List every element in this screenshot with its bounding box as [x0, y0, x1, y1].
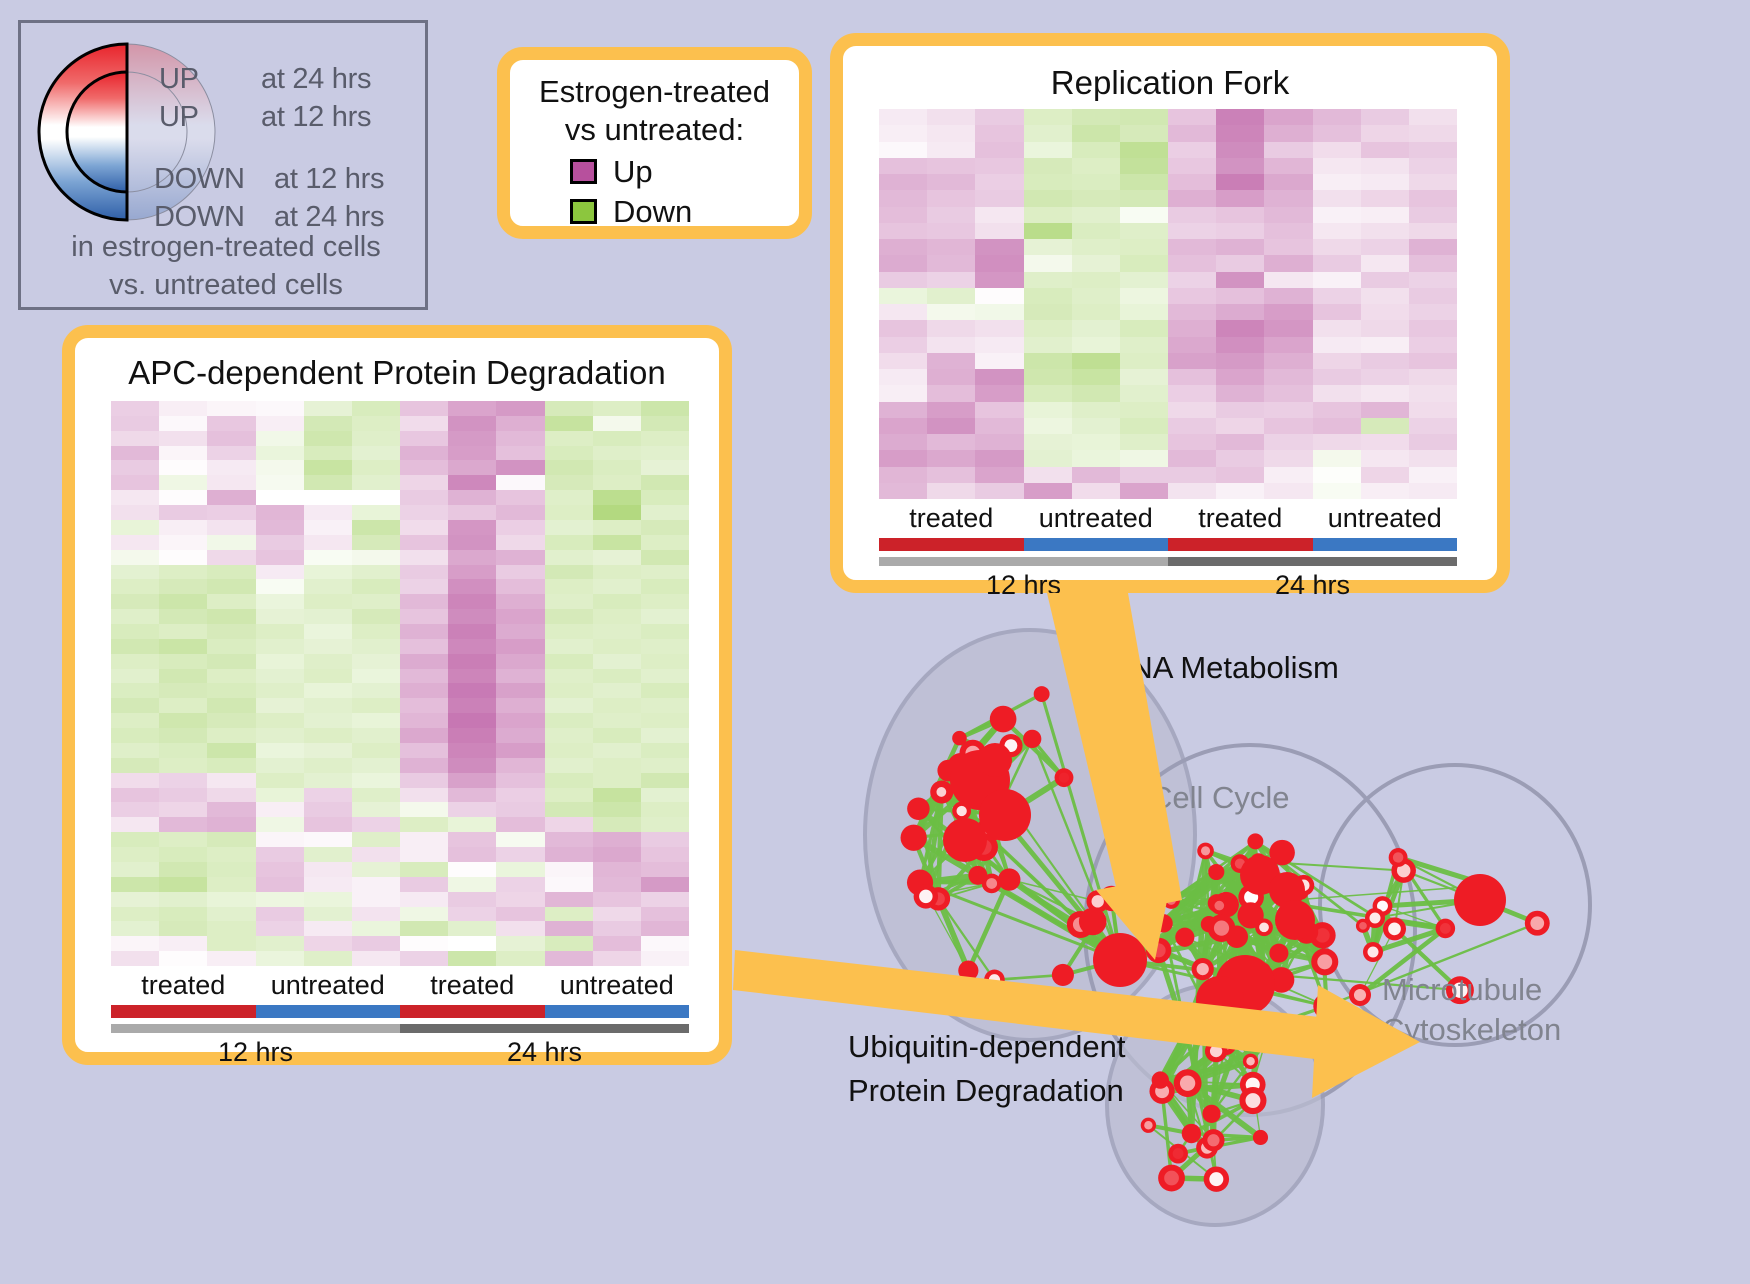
heatmap-cell	[256, 431, 304, 446]
heatmap-cell	[1313, 369, 1361, 385]
heatmap-cell	[545, 788, 593, 803]
heatmap-cell	[641, 892, 689, 907]
network-node-core	[1440, 923, 1451, 934]
heatmap-cell	[256, 743, 304, 758]
heatmap-cell	[159, 446, 207, 461]
network-node-core	[1235, 1020, 1250, 1035]
heatmap-cell	[352, 639, 400, 654]
heatmap-cell	[545, 669, 593, 684]
heatmap-cell	[1072, 174, 1120, 190]
heatmap-cell	[1168, 255, 1216, 271]
network-node-core	[1209, 1172, 1223, 1186]
network-node	[990, 706, 1017, 733]
heatmap-cell	[1072, 402, 1120, 418]
heatmap-cell	[496, 758, 544, 773]
heatmap-cell	[1409, 158, 1457, 174]
heatmap-cell	[1072, 483, 1120, 499]
heatmap-cell	[352, 773, 400, 788]
heatmap-cell	[304, 788, 352, 803]
heatmap-cell	[1216, 337, 1264, 353]
heatmap-cell	[1072, 125, 1120, 141]
heatmap-cell	[448, 446, 496, 461]
heatmap-cell	[159, 921, 207, 936]
heatmap-cell	[927, 402, 975, 418]
heatmap-cell	[1313, 255, 1361, 271]
direction-ring-legend: UP at 24 hrs UP at 12 hrs DOWN at 12 hrs…	[18, 20, 428, 310]
heatmap-cell	[1216, 158, 1264, 174]
heatmap-cell	[256, 624, 304, 639]
heatmap-cell	[352, 788, 400, 803]
heatmap-cell	[448, 520, 496, 535]
heatmap-cell	[448, 951, 496, 966]
heatmap-cell	[1313, 337, 1361, 353]
heatmap-cell	[1216, 288, 1264, 304]
heatmap-cell	[975, 369, 1023, 385]
heatmap-cell	[304, 609, 352, 624]
heatmap-cell	[975, 467, 1023, 483]
heatmap-cell	[111, 921, 159, 936]
heatmap-cell	[1361, 337, 1409, 353]
heatmap-cell	[593, 609, 641, 624]
heatmap-cell	[304, 936, 352, 951]
heatmap-cell	[1024, 288, 1072, 304]
heatmap-cell	[111, 624, 159, 639]
heatmap-cell	[111, 401, 159, 416]
heatmap-cell	[304, 669, 352, 684]
heatmap-cell	[1120, 402, 1168, 418]
heatmap-cell	[641, 460, 689, 475]
heatmap-cell	[1120, 418, 1168, 434]
heatmap-cell	[304, 520, 352, 535]
heatmap-cell	[256, 460, 304, 475]
heatmap-cell	[545, 401, 593, 416]
heatmap-cell	[207, 520, 255, 535]
heatmap-cell	[641, 639, 689, 654]
heatmap-cell	[1216, 402, 1264, 418]
heatmap-cell	[111, 788, 159, 803]
heatmap-cell	[304, 951, 352, 966]
heatmap-cell	[1409, 142, 1457, 158]
updown-title-line-1: Estrogen-treated	[510, 74, 799, 110]
heatmap-cell	[400, 460, 448, 475]
ring-row-label-2: DOWN	[154, 163, 245, 196]
network-node-core	[1530, 916, 1544, 930]
heatmap-cell	[1120, 304, 1168, 320]
heatmap-cell	[879, 239, 927, 255]
network-node	[1182, 1124, 1201, 1143]
heatmap-cell	[304, 579, 352, 594]
heatmap-cell	[1072, 304, 1120, 320]
heatmap-cell	[1409, 483, 1457, 499]
heatmap-cell	[545, 743, 593, 758]
heatmap-cell	[207, 683, 255, 698]
heatmap-cell	[1216, 190, 1264, 206]
heatmap-cell	[1313, 483, 1361, 499]
heatmap-cell	[207, 713, 255, 728]
heatmap-cell	[207, 892, 255, 907]
heatmap-cell	[1024, 158, 1072, 174]
heatmap-cell	[352, 728, 400, 743]
heatmap-cell	[641, 669, 689, 684]
heatmap-cell	[1216, 320, 1264, 336]
heatmap-cell	[593, 788, 641, 803]
heatmap-cell	[1072, 385, 1120, 401]
heatmap-cell	[545, 490, 593, 505]
heatmap-cell	[1024, 272, 1072, 288]
heatmap-cell	[304, 713, 352, 728]
heatmap-cell	[1264, 467, 1312, 483]
heatmap-cell	[352, 698, 400, 713]
heatmap-cell	[207, 505, 255, 520]
time-label: 12 hrs	[879, 570, 1168, 604]
heatmap-cell	[927, 207, 975, 223]
heatmap-cell	[207, 921, 255, 936]
heatmap-cell	[304, 728, 352, 743]
heatmap-cell	[927, 304, 975, 320]
heatmap-cell	[1024, 450, 1072, 466]
heatmap-cell	[1264, 174, 1312, 190]
ubiquitin-line-1: Ubiquitin-dependent	[848, 1025, 1178, 1069]
heatmap-cell	[1072, 467, 1120, 483]
heatmap-cell	[1120, 190, 1168, 206]
heatmap-cell	[400, 773, 448, 788]
heatmap-cell	[256, 579, 304, 594]
heatmap-cell	[641, 446, 689, 461]
heatmap-cell	[1120, 288, 1168, 304]
heatmap-cell	[159, 609, 207, 624]
heatmap-cell	[256, 550, 304, 565]
heatmap-cell	[1168, 320, 1216, 336]
microtubule-line-2: Cytoskeleton	[1382, 1010, 1582, 1050]
apc-group-labels: treateduntreatedtreateduntreated	[111, 970, 689, 1004]
network-node-core	[1317, 954, 1332, 969]
heatmap-cell	[496, 550, 544, 565]
heatmap-cell	[256, 505, 304, 520]
heatmap-cell	[256, 832, 304, 847]
heatmap-cell	[207, 877, 255, 892]
network-node-core	[1388, 923, 1401, 936]
heatmap-cell	[1409, 207, 1457, 223]
heatmap-cell	[1168, 223, 1216, 239]
heatmap-cell	[207, 609, 255, 624]
heatmap-cell	[448, 431, 496, 446]
heatmap-cell	[111, 773, 159, 788]
heatmap-cell	[1409, 467, 1457, 483]
network-node-core	[1214, 921, 1229, 936]
network-node-core	[989, 974, 1000, 985]
heatmap-cell	[352, 624, 400, 639]
heatmap-cell	[448, 490, 496, 505]
heatmap-cell	[1024, 109, 1072, 125]
heatmap-cell	[545, 460, 593, 475]
treatment-bar-segment	[545, 1005, 690, 1018]
network-node-core	[1180, 1075, 1195, 1090]
heatmap-cell	[545, 892, 593, 907]
heatmap-cell	[927, 272, 975, 288]
heatmap-cell	[975, 418, 1023, 434]
heatmap-cell	[1120, 109, 1168, 125]
network-node	[979, 789, 1031, 841]
network-node-core	[1166, 895, 1176, 905]
network-node	[1034, 686, 1050, 702]
network-node	[1154, 914, 1172, 932]
heatmap-cell	[1072, 239, 1120, 255]
heatmap-cell	[1264, 255, 1312, 271]
heatmap-cell	[496, 832, 544, 847]
heatmap-cell	[111, 609, 159, 624]
heatmap-cell	[1409, 320, 1457, 336]
heatmap-cell	[1313, 288, 1361, 304]
heatmap-cell	[1313, 174, 1361, 190]
heatmap-cell	[1264, 239, 1312, 255]
group-label: untreated	[1024, 503, 1169, 537]
heatmap-cell	[593, 951, 641, 966]
heatmap-cell	[111, 817, 159, 832]
heatmap-cell	[111, 877, 159, 892]
heatmap-cell	[159, 401, 207, 416]
heatmap-cell	[111, 832, 159, 847]
heatmap-cell	[545, 832, 593, 847]
heatmap-cell	[927, 353, 975, 369]
network-node	[998, 868, 1020, 890]
heatmap-cell	[207, 698, 255, 713]
heatmap-cell	[1024, 174, 1072, 190]
heatmap-cell	[1024, 142, 1072, 158]
heatmap-cell	[448, 907, 496, 922]
heatmap-cell	[111, 431, 159, 446]
heatmap-cell	[1264, 337, 1312, 353]
heatmap-cell	[159, 639, 207, 654]
heatmap-cell	[256, 862, 304, 877]
heatmap-cell	[304, 758, 352, 773]
heatmap-cell	[1361, 174, 1409, 190]
heatmap-cell	[1024, 467, 1072, 483]
heatmap-cell	[496, 877, 544, 892]
heatmap-cell	[1361, 207, 1409, 223]
heatmap-cell	[641, 951, 689, 966]
heatmap-cell	[1264, 125, 1312, 141]
heatmap-cell	[879, 288, 927, 304]
heatmap-cell	[1024, 207, 1072, 223]
treatment-bar-segment	[256, 1005, 401, 1018]
network-node-core	[1259, 922, 1269, 932]
heatmap-cell	[400, 579, 448, 594]
heatmap-cell	[111, 654, 159, 669]
heatmap-cell	[1216, 467, 1264, 483]
heatmap-cell	[111, 565, 159, 580]
heatmap-cell	[1168, 207, 1216, 223]
updown-title-line-2: vs untreated:	[510, 112, 799, 148]
heatmap-cell	[496, 862, 544, 877]
heatmap-cell	[1024, 190, 1072, 206]
ring-caption-line-2: vs. untreated cells	[21, 266, 431, 304]
heatmap-cell	[545, 565, 593, 580]
heatmap-cell	[111, 743, 159, 758]
heatmap-cell	[1120, 434, 1168, 450]
rf-time-bar	[879, 557, 1457, 566]
heatmap-cell	[1024, 418, 1072, 434]
heatmap-cell	[207, 907, 255, 922]
heatmap-cell	[1313, 125, 1361, 141]
heatmap-cell	[593, 683, 641, 698]
heatmap-cell	[1072, 109, 1120, 125]
heatmap-cell	[1361, 434, 1409, 450]
heatmap-cell	[1072, 320, 1120, 336]
heatmap-cell	[496, 505, 544, 520]
heatmap-cell	[879, 483, 927, 499]
heatmap-cell	[1120, 142, 1168, 158]
group-label: treated	[879, 503, 1024, 537]
heatmap-cell	[593, 817, 641, 832]
heatmap-cell	[448, 713, 496, 728]
heatmap-cell	[1168, 353, 1216, 369]
network-node-core	[1359, 922, 1367, 930]
heatmap-cell	[111, 669, 159, 684]
heatmap-cell	[1072, 418, 1120, 434]
heatmap-cell	[207, 654, 255, 669]
heatmap-cell	[400, 401, 448, 416]
heatmap-cell	[159, 951, 207, 966]
heatmap-cell	[927, 158, 975, 174]
heatmap-cell	[1168, 190, 1216, 206]
heatmap-cell	[927, 418, 975, 434]
up-color-swatch	[570, 159, 597, 184]
heatmap-cell	[545, 654, 593, 669]
heatmap-cell	[496, 802, 544, 817]
heatmap-cell	[448, 698, 496, 713]
heatmap-cell	[879, 418, 927, 434]
heatmap-cell	[1024, 255, 1072, 271]
heatmap-cell	[1313, 450, 1361, 466]
heatmap-cell	[593, 773, 641, 788]
heatmap-cell	[207, 579, 255, 594]
heatmap-cell	[545, 936, 593, 951]
network-node-core	[1059, 772, 1069, 782]
heatmap-cell	[593, 594, 641, 609]
heatmap-cell	[1313, 223, 1361, 239]
rf-time-labels: 12 hrs24 hrs	[879, 570, 1457, 604]
heatmap-cell	[304, 535, 352, 550]
heatmap-cell	[1264, 109, 1312, 125]
heatmap-cell	[400, 713, 448, 728]
heatmap-cell	[448, 594, 496, 609]
heatmap-cell	[1361, 402, 1409, 418]
heatmap-cell	[593, 446, 641, 461]
heatmap-cell	[1313, 158, 1361, 174]
heatmap-cell	[1120, 369, 1168, 385]
heatmap-cell	[496, 683, 544, 698]
heatmap-cell	[879, 255, 927, 271]
heatmap-cell	[448, 892, 496, 907]
network-node	[1023, 730, 1041, 748]
heatmap-cell	[352, 877, 400, 892]
heatmap-cell	[927, 239, 975, 255]
heatmap-cell	[1120, 450, 1168, 466]
network-node-core	[1214, 901, 1224, 911]
heatmap-cell	[496, 624, 544, 639]
heatmap-cell	[111, 490, 159, 505]
heatmap-cell	[641, 936, 689, 951]
heatmap-cell	[1072, 434, 1120, 450]
heatmap-cell	[400, 847, 448, 862]
heatmap-cell	[400, 609, 448, 624]
heatmap-cell	[1264, 450, 1312, 466]
heatmap-cell	[352, 817, 400, 832]
heatmap-cell	[159, 624, 207, 639]
heatmap-cell	[159, 713, 207, 728]
heatmap-cell	[879, 304, 927, 320]
heatmap-cell	[927, 255, 975, 271]
heatmap-cell	[641, 698, 689, 713]
heatmap-cell	[352, 416, 400, 431]
heatmap-cell	[304, 907, 352, 922]
heatmap-cell	[159, 416, 207, 431]
heatmap-cell	[304, 401, 352, 416]
heatmap-cell	[1120, 272, 1168, 288]
heatmap-cell	[159, 431, 207, 446]
heatmap-cell	[593, 743, 641, 758]
heatmap-cell	[593, 832, 641, 847]
heatmap-cell	[975, 109, 1023, 125]
heatmap-cell	[593, 936, 641, 951]
network-node	[978, 743, 1012, 777]
heatmap-cell	[1313, 272, 1361, 288]
network-node	[1237, 902, 1263, 928]
heatmap-cell	[159, 817, 207, 832]
network-node-core	[1164, 1171, 1179, 1186]
heatmap-cell	[1216, 223, 1264, 239]
time-bar-segment	[879, 557, 1168, 566]
heatmap-cell	[207, 773, 255, 788]
heatmap-cell	[1024, 125, 1072, 141]
heatmap-cell	[159, 728, 207, 743]
heatmap-cell	[641, 743, 689, 758]
heatmap-cell	[496, 892, 544, 907]
heatmap-cell	[879, 207, 927, 223]
heatmap-cell	[207, 639, 255, 654]
heatmap-cell	[496, 669, 544, 684]
heatmap-cell	[448, 550, 496, 565]
heatmap-cell	[641, 416, 689, 431]
heatmap-cell	[1120, 207, 1168, 223]
heatmap-cell	[927, 320, 975, 336]
heatmap-cell	[1409, 369, 1457, 385]
treatment-bar-segment	[879, 538, 1024, 551]
heatmap-cell	[207, 624, 255, 639]
heatmap-cell	[352, 743, 400, 758]
heatmap-cell	[448, 758, 496, 773]
heatmap-cell	[545, 535, 593, 550]
heatmap-cell	[111, 892, 159, 907]
heatmap-cell	[448, 788, 496, 803]
heatmap-cell	[207, 832, 255, 847]
heatmap-cell	[641, 520, 689, 535]
heatmap-cell	[448, 669, 496, 684]
heatmap-cell	[927, 434, 975, 450]
heatmap-cell	[879, 402, 927, 418]
heatmap-cell	[352, 475, 400, 490]
heatmap-cell	[159, 802, 207, 817]
heatmap-cell	[879, 337, 927, 353]
heatmap-cell	[1168, 450, 1216, 466]
heatmap-cell	[927, 223, 975, 239]
heatmap-cell	[400, 639, 448, 654]
heatmap-cell	[1072, 190, 1120, 206]
heatmap-cell	[641, 847, 689, 862]
heatmap-cell	[352, 951, 400, 966]
group-label: untreated	[1313, 503, 1458, 537]
heatmap-cell	[111, 639, 159, 654]
